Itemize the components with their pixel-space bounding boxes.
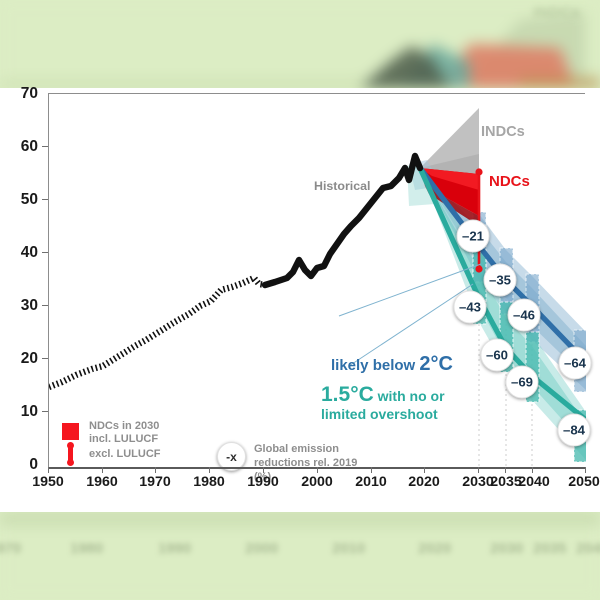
legend: NDCs in 2030 incl. LULUCF excl. LULUCF -… (62, 421, 362, 465)
y-tick-10: 10 (4, 403, 38, 421)
annotation-below-2c-prefix: likely below (331, 357, 419, 374)
x-tick-2035: 2035 (490, 474, 522, 490)
legend-ndc-swatch (62, 423, 79, 440)
x-tickmark-2000 (317, 467, 318, 473)
y-tick-70: 70 (4, 85, 38, 103)
x-tickmark-1970 (155, 467, 156, 473)
y-tick-0: 0 (4, 456, 38, 474)
x-tick-2030: 2030 (462, 474, 494, 490)
x-tickmark-1990 (263, 467, 264, 473)
badge-reduction-21[interactable]: –21 (457, 220, 490, 253)
x-tick-1950: 1950 (32, 474, 64, 490)
x-tick-1980: 1980 (193, 474, 225, 490)
legend-ndc-line1: NDCs in 2030 (89, 420, 159, 432)
legend-reduction-line1: Global emission (254, 443, 339, 455)
x-tickmark-1960 (102, 467, 103, 473)
backdrop-faded-xticks: 1970 1980 1990 2000 2010 2020 2030 2035 … (0, 512, 600, 600)
x-tick-1960: 1960 (86, 474, 118, 490)
annotation-historical: Historical (314, 179, 370, 193)
x-tick-2040: 2040 (518, 474, 550, 490)
backdrop-bottom: 1970 1980 1990 2000 2010 2020 2030 2035 … (0, 512, 600, 600)
x-tick-1970: 1970 (139, 474, 171, 490)
legend-ndc-text: NDCs in 2030 incl. LULUCF (89, 420, 159, 447)
x-tickmark-1980 (209, 467, 210, 473)
annotation-15c-suffix: with no or (374, 388, 445, 404)
x-tickmark-2040 (532, 467, 533, 473)
figure-root: INDCs 1970 1980 1990 2000 2010 2020 2030… (0, 0, 600, 600)
x-tick-2050: 2050 (568, 474, 600, 490)
badge-reduction-84[interactable]: –84 (558, 414, 591, 447)
y-tick-40: 40 (4, 244, 38, 262)
x-tickmark-2010 (371, 467, 372, 473)
annotation-ndcs: NDCs (489, 173, 530, 190)
historical-solid (265, 156, 420, 285)
y-tick-20: 20 (4, 350, 38, 368)
y-tick-50: 50 (4, 191, 38, 209)
badge-reduction-64[interactable]: –64 (559, 347, 592, 380)
x-tickmark-2030 (478, 467, 479, 473)
badge-reduction-60[interactable]: –60 (481, 339, 514, 372)
annotation-15c-line2: limited overshoot (321, 406, 438, 422)
legend-errorbar-bottom-dot (67, 459, 74, 466)
x-tickmark-2035 (505, 467, 506, 473)
badge-reduction-69[interactable]: –69 (506, 366, 539, 399)
backdrop-top-blur (0, 0, 600, 88)
badge-reduction-35[interactable]: –35 (484, 264, 517, 297)
x-tickmark-2050 (585, 467, 586, 473)
backdrop-top: INDCs (0, 0, 600, 88)
annotation-below-2c: likely below 2°C (331, 353, 453, 376)
y-tick-60: 60 (4, 138, 38, 156)
annotation-indcs: INDCs (481, 124, 525, 140)
y-tick-30: 30 (4, 297, 38, 315)
backdrop-faded-title: INDCs (533, 4, 581, 21)
x-tickmark-2020 (424, 467, 425, 473)
annotation-15c: 1.5°C with no or limited overshoot (321, 383, 445, 422)
x-tickmark-1950 (48, 467, 49, 473)
chart-card: Greenhouse gas emissions (Gt CO₂/yr GWP–… (0, 88, 600, 512)
badge-reduction-43[interactable]: –43 (454, 291, 487, 324)
badge-reduction-46[interactable]: –46 (508, 299, 541, 332)
legend-ndc-line2: incl. LULUCF (89, 433, 158, 445)
historical-dashed (49, 278, 265, 387)
x-tick-1990: 1990 (247, 474, 279, 490)
x-tick-2000: 2000 (301, 474, 333, 490)
annotation-15c-value: 1.5°C (321, 383, 374, 406)
x-tick-2010: 2010 (355, 474, 387, 490)
legend-ndc-excl: excl. LULUCF (89, 448, 161, 460)
annotation-below-2c-value: 2°C (419, 353, 453, 375)
x-tick-2020: 2020 (408, 474, 440, 490)
